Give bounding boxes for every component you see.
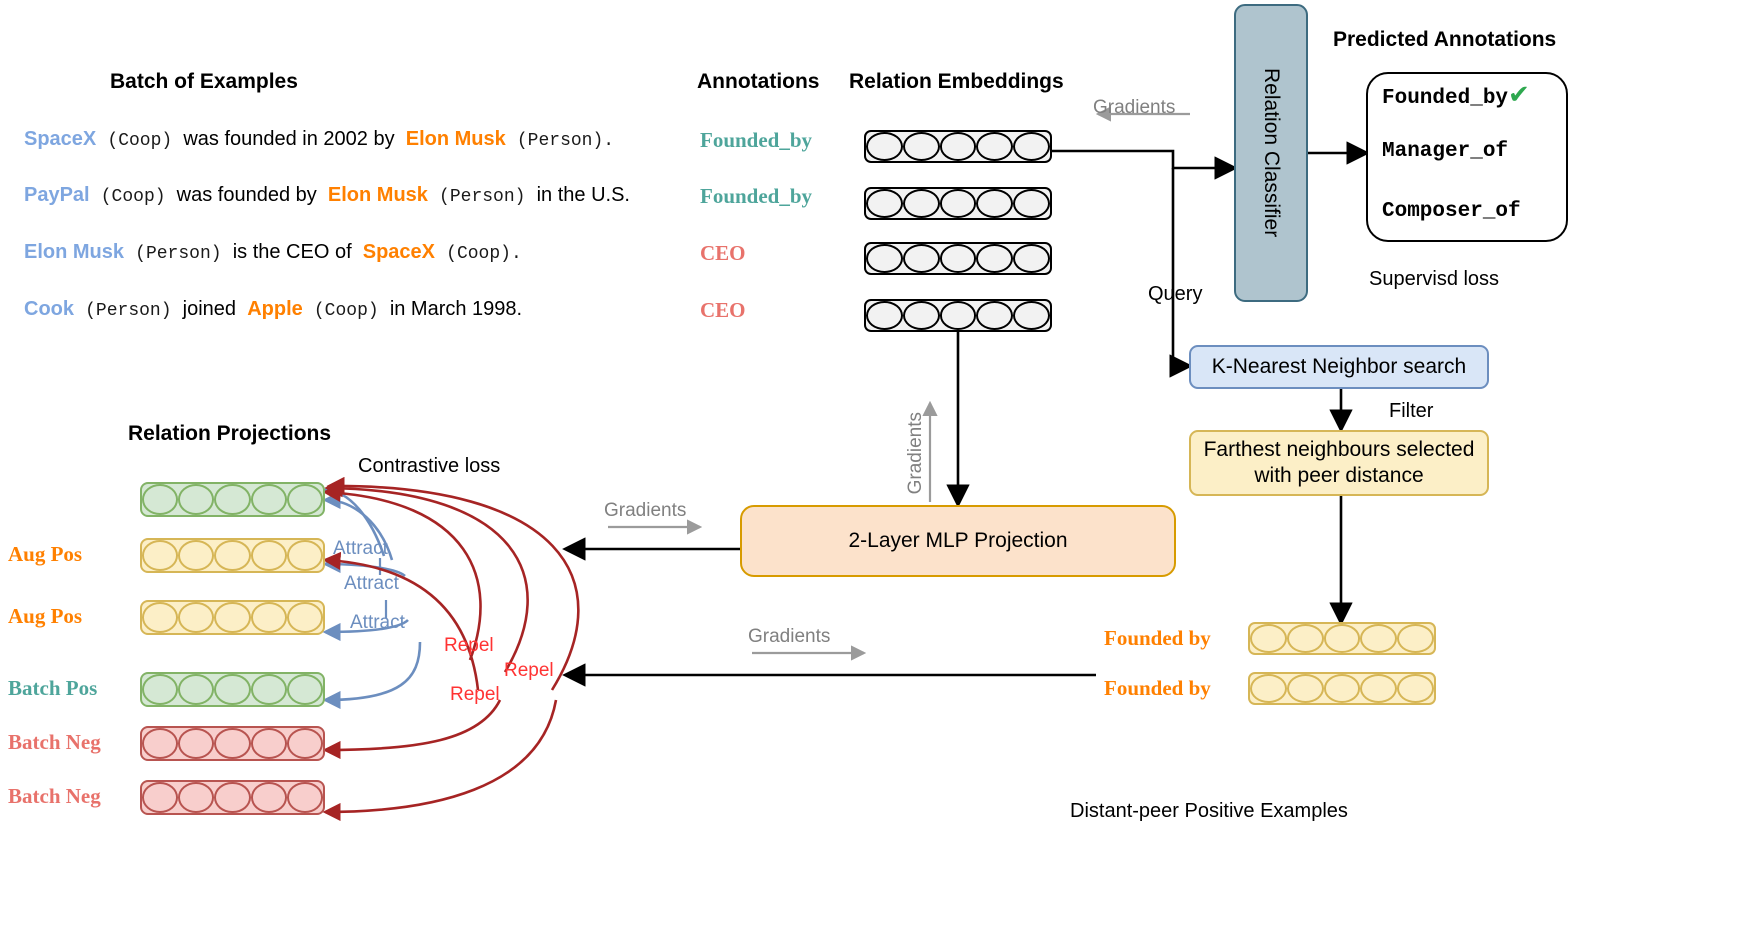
predicted-item-1[interactable]: Manager_of — [1382, 140, 1508, 163]
embedding-cell — [1397, 674, 1434, 703]
example-token: (Coop) — [107, 131, 172, 151]
distant-peer-strip — [1248, 672, 1436, 705]
query-label: Query — [1148, 283, 1202, 306]
example-token: Cook — [24, 298, 74, 320]
embedding-cell — [287, 728, 323, 759]
mlp-projection-label: 2-Layer MLP Projection — [848, 528, 1067, 554]
gradient-label-bottom: Gradients — [748, 626, 830, 648]
embedding-cell — [251, 484, 287, 515]
embedding-cell — [142, 540, 178, 571]
predicted-item-0[interactable]: Founded_by✔ — [1382, 80, 1530, 110]
heading-annotations: Annotations — [697, 70, 819, 94]
relation-classifier-label: Relation Classifier — [1259, 68, 1283, 237]
example-token: is the CEO of — [233, 241, 352, 263]
relation-projection-strip — [140, 780, 325, 815]
edge-query-to-knn — [1173, 168, 1189, 366]
example-token: was founded by — [177, 184, 317, 206]
embedding-cell — [1013, 244, 1050, 273]
embedding-cell — [214, 674, 250, 705]
annotation-label: CEO — [700, 241, 746, 266]
embedding-cell — [178, 484, 214, 515]
predicted-item-2[interactable]: Composer_of — [1382, 200, 1521, 223]
relation-classifier-box[interactable]: Relation Classifier — [1234, 4, 1308, 302]
distant-peer-label: Founded by — [1104, 676, 1211, 701]
embedding-cell — [142, 728, 178, 759]
annotation-label: Founded_by — [700, 184, 812, 209]
filter-label: Filter — [1389, 400, 1433, 423]
edge-embeddings-to-classifier — [1052, 151, 1234, 168]
annotation-label: CEO — [700, 298, 746, 323]
embedding-cell — [866, 244, 903, 273]
relation-projection-strip — [140, 600, 325, 635]
embedding-cell — [178, 602, 214, 633]
embedding-cell — [903, 189, 940, 218]
distant-peer-label: Founded by — [1104, 626, 1211, 651]
relation-embedding-strip — [864, 187, 1052, 220]
example-sentence: Cook (Person) joined Apple (Coop) in Mar… — [24, 298, 522, 321]
repel-curve-6 — [325, 700, 556, 812]
example-sentence: SpaceX (Coop) was founded in 2002 by Elo… — [24, 128, 614, 151]
example-token: (Coop). — [446, 244, 522, 264]
embedding-cell — [214, 484, 250, 515]
heading-batch-of-examples: Batch of Examples — [110, 70, 298, 94]
knn-search-label: K-Nearest Neighbor search — [1212, 354, 1466, 380]
example-token: SpaceX — [363, 241, 435, 263]
embedding-cell — [142, 674, 178, 705]
distant-peer-strip — [1248, 622, 1436, 655]
example-token: PayPal — [24, 184, 90, 206]
embedding-cell — [251, 782, 287, 813]
gradient-label-top: Gradients — [1093, 97, 1175, 119]
relation-projection-strip — [140, 482, 325, 517]
relation-projection-strip — [140, 538, 325, 573]
embedding-cell — [1013, 301, 1050, 330]
embedding-cell — [214, 602, 250, 633]
example-token: Elon Musk — [328, 184, 428, 206]
embedding-cell — [903, 244, 940, 273]
embedding-cell — [903, 301, 940, 330]
gradient-label-vertical: Gradients — [905, 412, 927, 494]
knn-search-box[interactable]: K-Nearest Neighbor search — [1189, 345, 1489, 389]
projection-row-label: Batch Neg — [8, 730, 101, 755]
embedding-cell — [142, 782, 178, 813]
farthest-neighbours-box[interactable]: Farthest neighbours selected with peer d… — [1189, 430, 1489, 496]
embedding-cell — [142, 484, 178, 515]
heading-relation-projections: Relation Projections — [128, 422, 331, 446]
example-token: (Person) — [439, 187, 525, 207]
example-token: Apple — [247, 298, 303, 320]
embedding-cell — [178, 540, 214, 571]
embedding-cell — [251, 728, 287, 759]
heading-relation-embeddings: Relation Embeddings — [849, 70, 1064, 94]
embedding-cell — [251, 540, 287, 571]
embedding-cell — [1360, 624, 1397, 653]
embedding-cell — [214, 728, 250, 759]
check-icon: ✔ — [1508, 80, 1530, 110]
mlp-projection-box[interactable]: 2-Layer MLP Projection — [740, 505, 1176, 577]
example-token: was founded in 2002 by — [183, 128, 394, 150]
example-token: (Person). — [517, 131, 614, 151]
embedding-cell — [866, 301, 903, 330]
relation-embedding-strip — [864, 242, 1052, 275]
repel-label-2: Repel — [504, 660, 554, 682]
embedding-cell — [1360, 674, 1397, 703]
gradient-label-mlp-left: Gradients — [604, 500, 686, 522]
embedding-cell — [1287, 674, 1324, 703]
embedding-cell — [251, 674, 287, 705]
attract-label-1: Attract — [344, 573, 399, 595]
relation-embedding-strip — [864, 130, 1052, 163]
relation-embedding-strip — [864, 299, 1052, 332]
repel-label-0: Repel — [444, 635, 494, 657]
embedding-cell — [178, 674, 214, 705]
embedding-cell — [1250, 674, 1287, 703]
example-token: in the U.S. — [537, 184, 630, 206]
repel-curve-5 — [325, 700, 500, 750]
embedding-cell — [1397, 624, 1434, 653]
embedding-cell — [866, 132, 903, 161]
example-token: (Coop) — [314, 301, 379, 321]
farthest-line-2: with peer distance — [1254, 463, 1423, 489]
example-token: (Coop) — [101, 187, 166, 207]
projection-row-label: Batch Neg — [8, 784, 101, 809]
embedding-cell — [178, 782, 214, 813]
projection-row-label: Aug Pos — [8, 604, 82, 629]
example-token: joined — [183, 298, 236, 320]
relation-projection-strip — [140, 672, 325, 707]
embedding-cell — [1324, 674, 1361, 703]
attract-label-0: Attract — [333, 538, 388, 560]
example-token: (Person) — [135, 244, 221, 264]
example-sentence: Elon Musk (Person) is the CEO of SpaceX … — [24, 241, 522, 264]
relation-projection-strip — [140, 726, 325, 761]
example-token: Elon Musk — [406, 128, 506, 150]
heading-predicted-annotations: Predicted Annotations — [1333, 28, 1556, 52]
example-sentence: PayPal (Coop) was founded by Elon Musk (… — [24, 184, 630, 207]
embedding-cell — [287, 782, 323, 813]
repel-label-1: Repel — [450, 684, 500, 706]
embedding-cell — [1287, 624, 1324, 653]
embedding-cell — [976, 244, 1013, 273]
embedding-cell — [976, 132, 1013, 161]
embedding-cell — [1250, 624, 1287, 653]
embedding-cell — [1013, 189, 1050, 218]
embedding-cell — [214, 782, 250, 813]
embedding-cell — [287, 674, 323, 705]
farthest-line-1: Farthest neighbours selected — [1204, 437, 1475, 463]
projection-row-label: Aug Pos — [8, 542, 82, 567]
contrastive-loss-label: Contrastive loss — [358, 455, 500, 478]
distant-peer-caption: Distant-peer Positive Examples — [1070, 800, 1348, 823]
example-token: (Person) — [85, 301, 171, 321]
embedding-cell — [287, 484, 323, 515]
attract-curve-5 — [325, 642, 420, 700]
embedding-cell — [287, 602, 323, 633]
embedding-cell — [1013, 132, 1050, 161]
embedding-cell — [287, 540, 323, 571]
example-token: SpaceX — [24, 128, 96, 150]
attract-label-2: Attract — [350, 612, 405, 634]
embedding-cell — [142, 602, 178, 633]
embedding-cell — [940, 244, 977, 273]
embedding-cell — [940, 301, 977, 330]
embedding-cell — [940, 189, 977, 218]
embedding-cell — [251, 602, 287, 633]
example-token: Elon Musk — [24, 241, 124, 263]
embedding-cell — [214, 540, 250, 571]
embedding-cell — [976, 301, 1013, 330]
supervised-loss-caption: Supervisd loss — [1369, 268, 1499, 291]
annotation-label: Founded_by — [700, 128, 812, 153]
embedding-cell — [866, 189, 903, 218]
embedding-cell — [903, 132, 940, 161]
embedding-cell — [1324, 624, 1361, 653]
embedding-cell — [976, 189, 1013, 218]
predicted-item-0-label: Founded_by — [1382, 87, 1508, 110]
projection-row-label: Batch Pos — [8, 676, 97, 701]
embedding-cell — [178, 728, 214, 759]
example-token: in March 1998. — [390, 298, 522, 320]
embedding-cell — [940, 132, 977, 161]
